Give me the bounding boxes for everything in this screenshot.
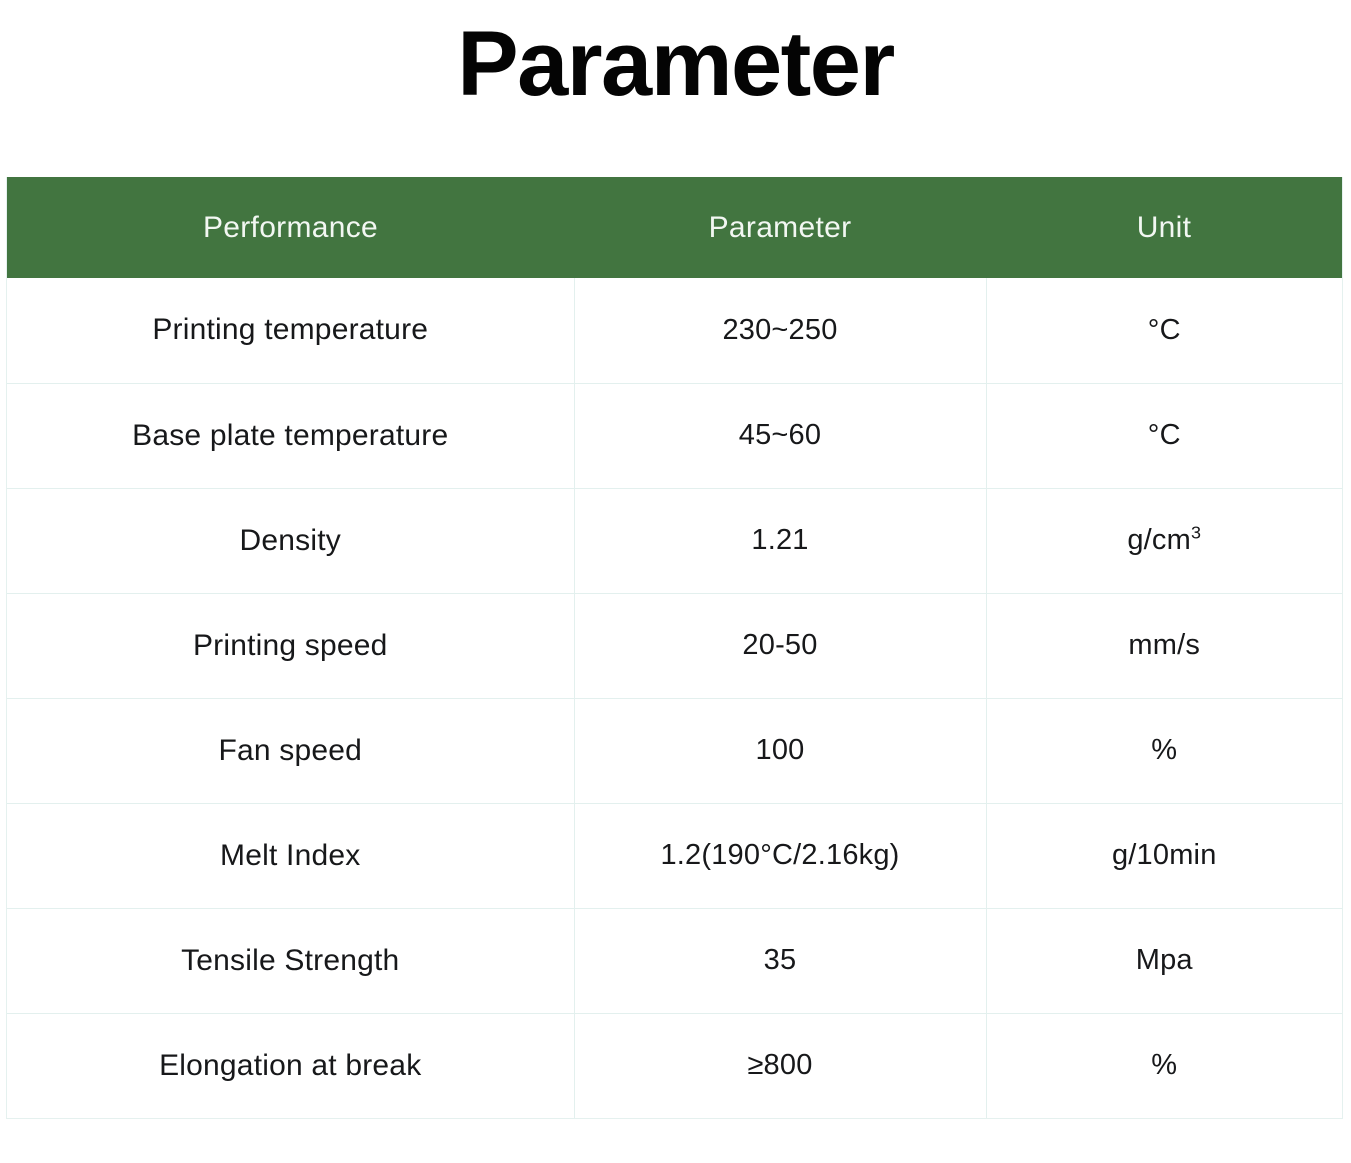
table-row: Melt Index1.2(190°C/2.16kg)g/10min: [7, 803, 1342, 908]
unit-text: °C: [1148, 419, 1181, 451]
parameter-table-container: Performance Parameter Unit Printing temp…: [6, 177, 1343, 1119]
table-row: Elongation at break≥800%: [7, 1013, 1342, 1118]
cell-performance: Melt Index: [7, 803, 574, 908]
unit-text: °C: [1148, 314, 1181, 346]
table-row: Density1.21g/cm3: [7, 488, 1342, 593]
table-row: Tensile Strength35Mpa: [7, 908, 1342, 1013]
cell-performance: Tensile Strength: [7, 908, 574, 1013]
table-row: Printing temperature230~250°C: [7, 278, 1342, 383]
cell-parameter: 20-50: [574, 593, 986, 698]
cell-unit: g/cm3: [986, 488, 1342, 593]
cell-unit: %: [986, 698, 1342, 803]
unit-text: g/10min: [1112, 839, 1217, 871]
unit-text: %: [1151, 1049, 1177, 1081]
table-header: Performance Parameter Unit: [7, 177, 1342, 278]
cell-unit: %: [986, 1013, 1342, 1118]
unit-text: %: [1151, 734, 1177, 766]
table-row: Base plate temperature45~60°C: [7, 383, 1342, 488]
table-row: Printing speed20-50mm/s: [7, 593, 1342, 698]
column-header-unit: Unit: [986, 177, 1342, 278]
cell-unit: °C: [986, 383, 1342, 488]
unit-text: Mpa: [1136, 944, 1193, 976]
cell-performance: Elongation at break: [7, 1013, 574, 1118]
cell-performance: Fan speed: [7, 698, 574, 803]
table-body: Printing temperature230~250°CBase plate …: [7, 278, 1342, 1118]
cell-parameter: 230~250: [574, 278, 986, 383]
cell-parameter: 45~60: [574, 383, 986, 488]
column-header-performance: Performance: [7, 177, 574, 278]
parameter-spec-page: Parameter Performance Parameter Unit Pri…: [0, 0, 1351, 1163]
cell-unit: mm/s: [986, 593, 1342, 698]
unit-text: g/cm: [1127, 524, 1191, 556]
cell-unit: °C: [986, 278, 1342, 383]
cell-parameter: 100: [574, 698, 986, 803]
cell-parameter: 35: [574, 908, 986, 1013]
cell-unit: g/10min: [986, 803, 1342, 908]
cell-performance: Printing speed: [7, 593, 574, 698]
page-title: Parameter: [0, 0, 1351, 110]
column-header-parameter: Parameter: [574, 177, 986, 278]
cell-parameter: 1.2(190°C/2.16kg): [574, 803, 986, 908]
table-header-row: Performance Parameter Unit: [7, 177, 1342, 278]
cell-parameter: ≥800: [574, 1013, 986, 1118]
cell-performance: Printing temperature: [7, 278, 574, 383]
cell-unit: Mpa: [986, 908, 1342, 1013]
table-row: Fan speed100%: [7, 698, 1342, 803]
cell-parameter: 1.21: [574, 488, 986, 593]
cell-performance: Density: [7, 488, 574, 593]
cell-performance: Base plate temperature: [7, 383, 574, 488]
unit-exponent: 3: [1191, 522, 1201, 542]
unit-text: mm/s: [1128, 629, 1200, 661]
parameter-table: Performance Parameter Unit Printing temp…: [7, 177, 1342, 1118]
